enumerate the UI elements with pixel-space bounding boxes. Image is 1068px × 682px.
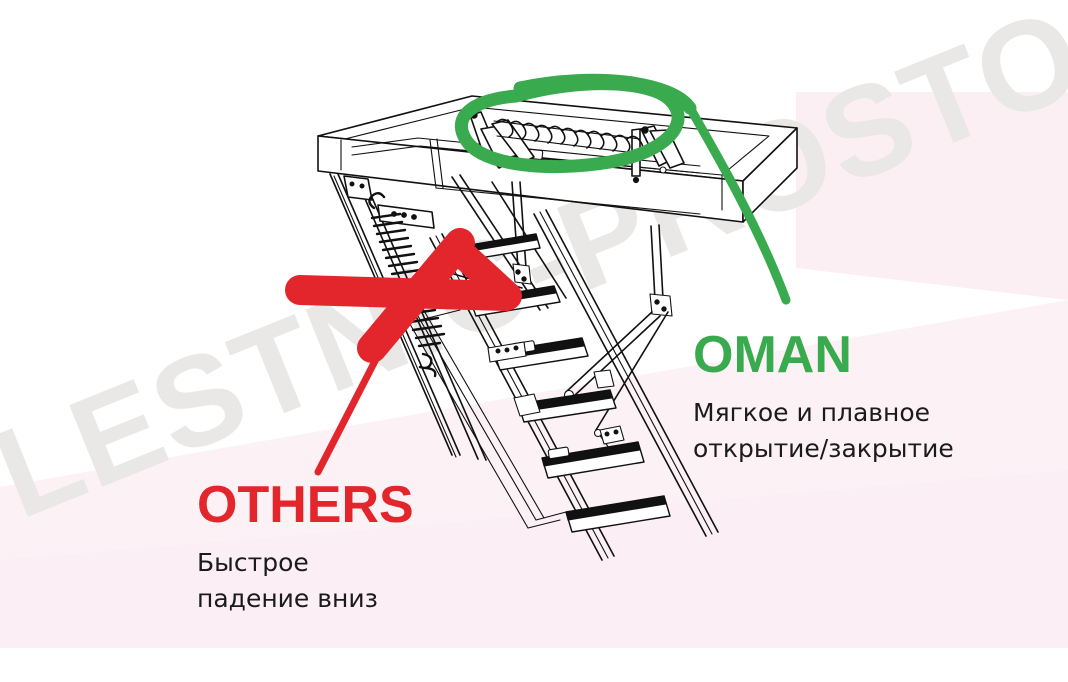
illustration-canvas: LESTNIC-PROSTO.RU .ln{fill:none;stroke:#… — [0, 0, 1068, 682]
oman-annotation-block: OMAN Мягкое и плавное открытие/закрытие — [693, 329, 954, 468]
oman-caption-line-1: Мягкое и плавное — [693, 395, 954, 431]
red-cross-arrow-marker — [300, 243, 508, 472]
others-title: OTHERS — [197, 479, 414, 531]
others-annotation-block: OTHERS Быстрое падение вниз — [197, 479, 414, 618]
green-oval-marker — [461, 80, 786, 300]
others-caption-line-1: Быстрое — [197, 545, 414, 581]
oman-title: OMAN — [693, 329, 954, 381]
oman-caption-line-2: открытие/закрытие — [693, 431, 954, 467]
others-caption-line-2: падение вниз — [197, 581, 414, 617]
